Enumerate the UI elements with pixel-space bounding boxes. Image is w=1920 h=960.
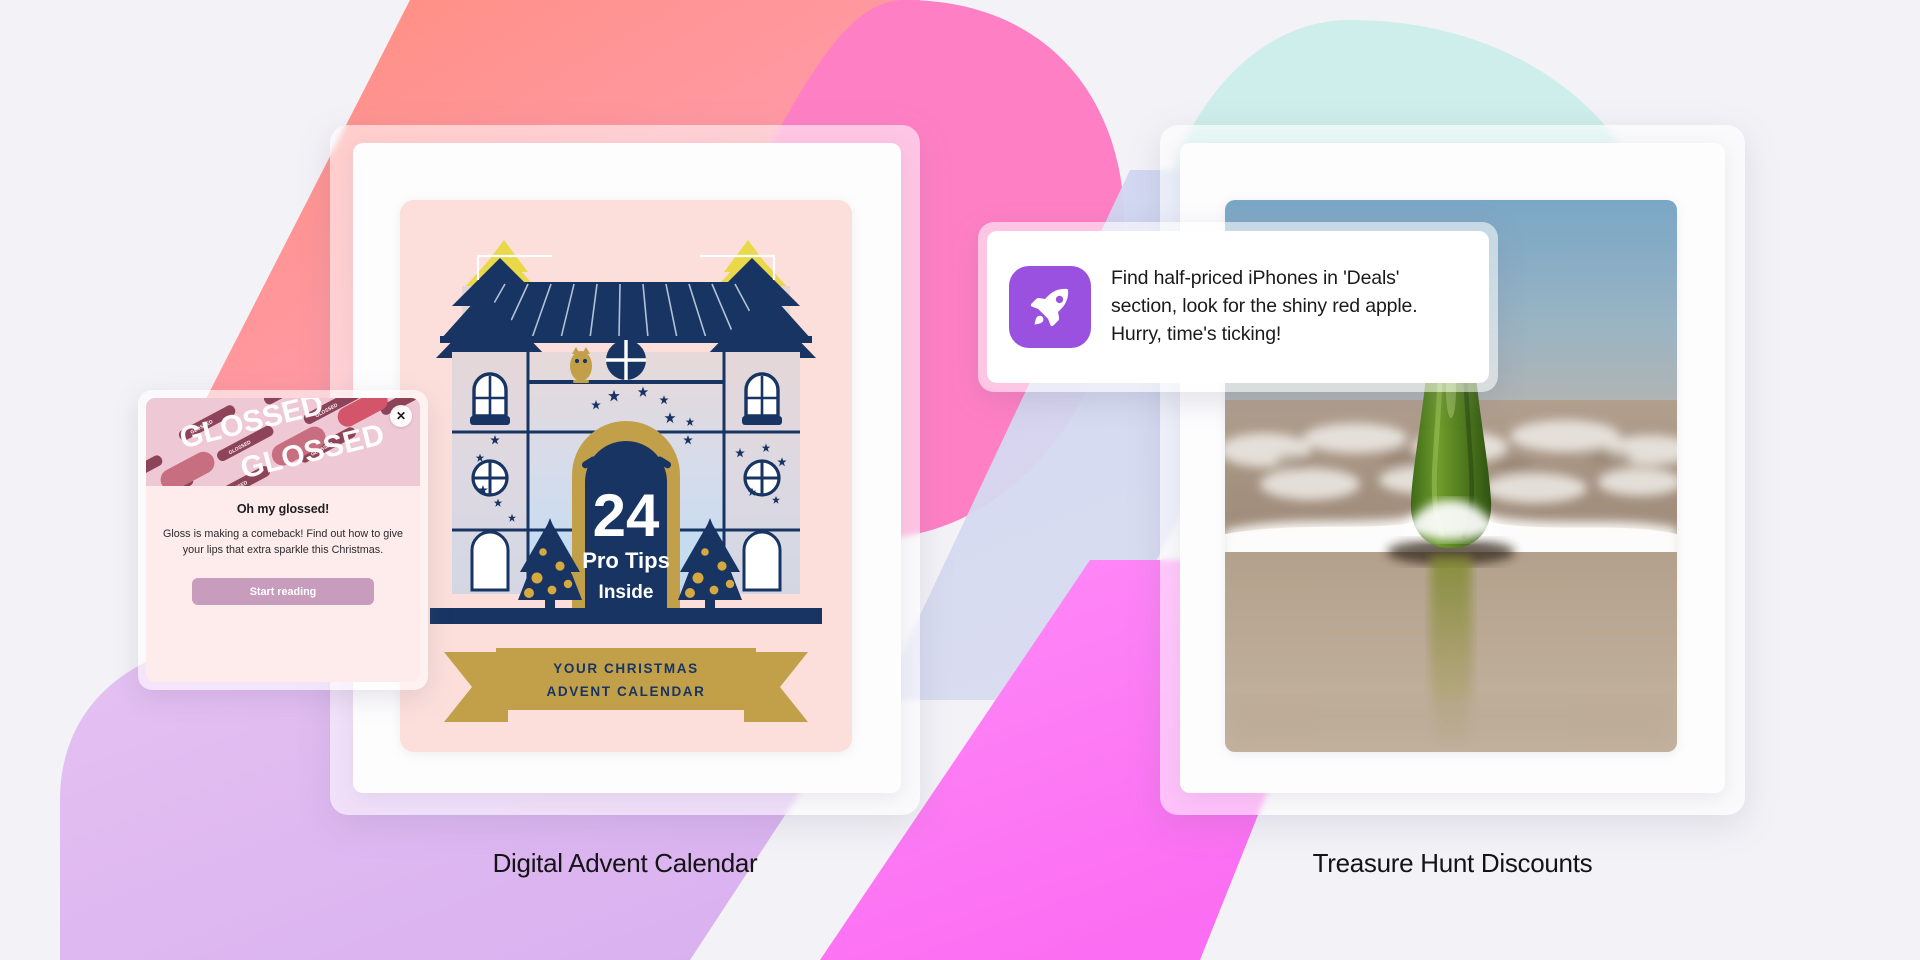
gloss-hero-image: GLOSSED GLOSSED GLOSSED GLOSSED GLOSSED … — [146, 398, 420, 486]
ribbon-line1-text: YOUR CHRISTMAS — [553, 661, 698, 676]
advent-card-caption: Digital Advent Calendar — [330, 848, 920, 879]
close-icon[interactable]: ✕ — [390, 405, 412, 427]
rocket-notification-card: Find half-priced iPhones in 'Deals' sect… — [987, 231, 1489, 383]
gloss-popup-text: Gloss is making a comeback! Find out how… — [160, 527, 406, 558]
treasure-card-caption: Treasure Hunt Discounts — [1160, 848, 1745, 879]
door-line2-text: Inside — [599, 582, 654, 603]
rocket-notification-message: Find half-priced iPhones in 'Deals' sect… — [1111, 265, 1467, 348]
gloss-popup-body: Oh my glossed! Gloss is making a comebac… — [146, 486, 420, 605]
page-root: 24 Pro Tips Inside YOUR CHRISTMAS ADVENT… — [0, 0, 1920, 960]
door-line1-text: Pro Tips — [582, 548, 670, 573]
gloss-popup-overlay[interactable]: GLOSSED GLOSSED GLOSSED GLOSSED GLOSSED … — [138, 390, 428, 690]
castle-illustration: 24 Pro Tips Inside YOUR CHRISTMAS ADVENT… — [400, 200, 852, 752]
rocket-icon — [1009, 266, 1091, 348]
door-number-text: 24 — [593, 482, 660, 549]
start-reading-button[interactable]: Start reading — [192, 578, 374, 605]
advent-calendar-creative[interactable]: 24 Pro Tips Inside YOUR CHRISTMAS ADVENT… — [400, 200, 852, 752]
gloss-popup-card: GLOSSED GLOSSED GLOSSED GLOSSED GLOSSED … — [146, 398, 420, 682]
gloss-popup-title: Oh my glossed! — [160, 502, 406, 516]
rocket-notification-overlay[interactable]: Find half-priced iPhones in 'Deals' sect… — [978, 222, 1498, 392]
ribbon-line2-text: ADVENT CALENDAR — [547, 684, 706, 699]
